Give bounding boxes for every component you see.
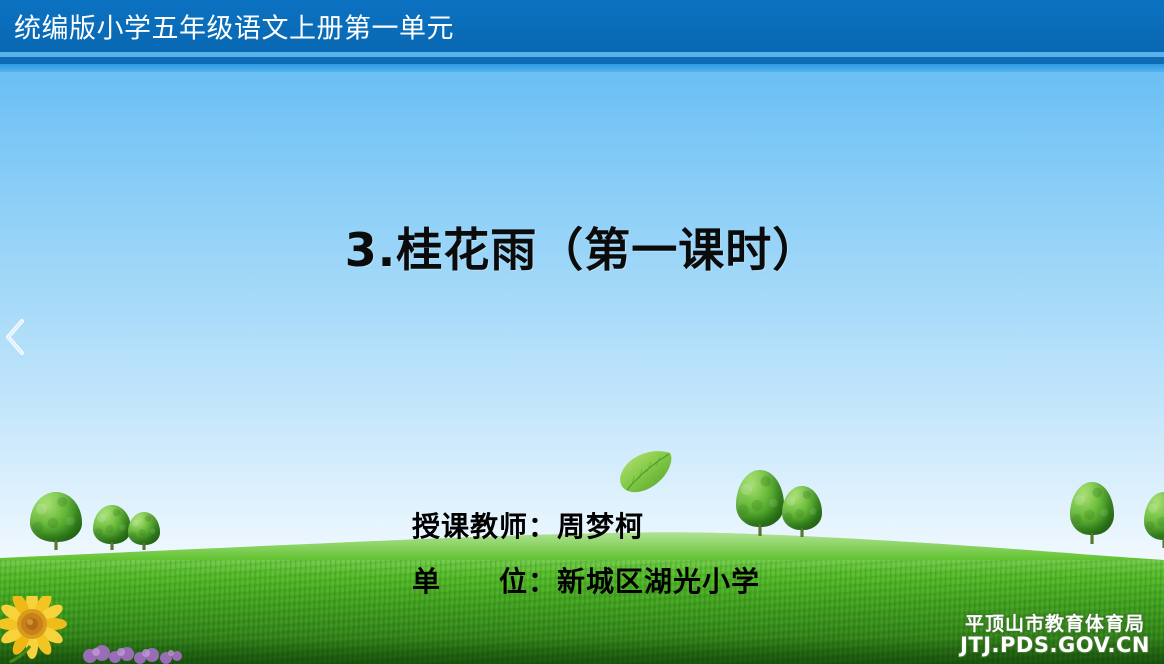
tree-trunk: [1091, 533, 1094, 544]
tree-right-2: [782, 486, 822, 537]
tree-crown: [93, 505, 131, 544]
leaf-icon: [616, 448, 676, 494]
tree-crown: [782, 486, 822, 530]
tree-trunk: [111, 542, 114, 550]
tree-crown: [736, 470, 784, 527]
slide-title: 3.桂花雨（第一课时）: [0, 214, 1164, 280]
teacher-line: 授课教师：周梦柯: [412, 505, 644, 545]
header-title: 统编版小学五年级语文上册第一单元: [14, 7, 454, 46]
tree-left-2: [93, 505, 131, 550]
tree-right-4: [1144, 492, 1164, 548]
tree-trunk: [55, 540, 58, 550]
unit-line: 单 位：新城区湖光小学: [412, 560, 760, 600]
header-stripe-fade: [0, 64, 1164, 72]
tree-trunk: [143, 543, 146, 550]
tree-crown: [1070, 482, 1114, 535]
presentation-slide: 统编版小学五年级语文上册第一单元 3.桂花雨（第一课时） 授课教师：周梦柯 单 …: [0, 0, 1164, 664]
purple-flowers: [78, 640, 188, 664]
chevron-left-icon[interactable]: [2, 318, 28, 356]
tree-trunk: [759, 524, 762, 536]
tree-left-1: [30, 492, 82, 550]
tree-crown: [1144, 492, 1164, 540]
header-bar: 统编版小学五年级语文上册第一单元: [0, 0, 1164, 52]
tree-crown: [30, 492, 82, 542]
sunflower-icon: [0, 596, 72, 664]
header-stripe-dark: [0, 57, 1164, 64]
tree-trunk: [801, 528, 804, 537]
tree-right-1: [736, 470, 784, 536]
tree-right-3: [1070, 482, 1114, 544]
tree-left-3: [128, 512, 160, 550]
tree-crown: [128, 512, 160, 545]
